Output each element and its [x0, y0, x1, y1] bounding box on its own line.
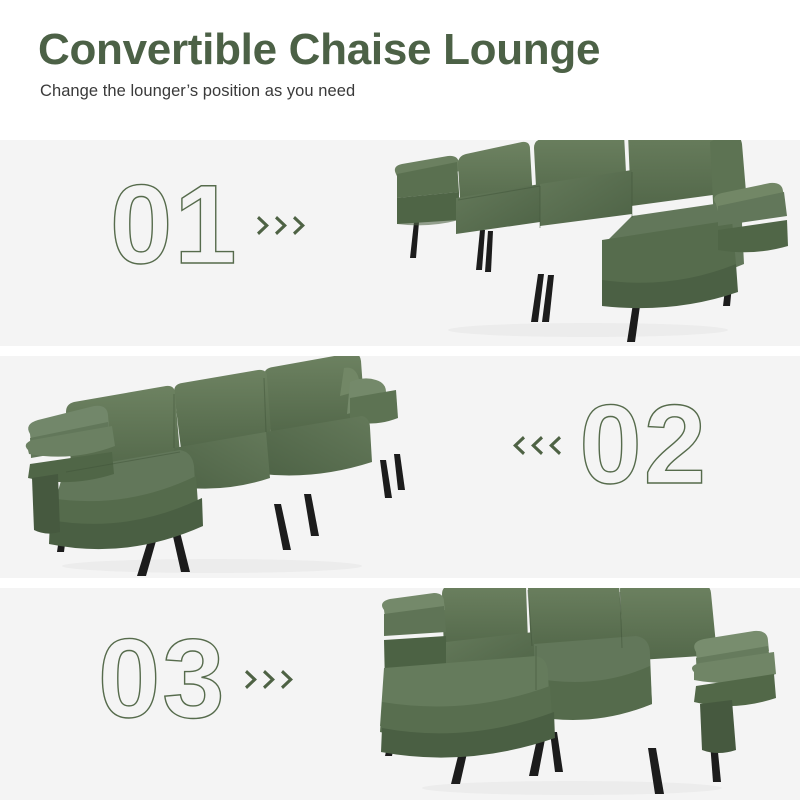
- sofa-image-3: [362, 588, 800, 800]
- chevron-left-icon: [546, 435, 561, 456]
- arrow-group-left-2: [510, 435, 561, 456]
- page-title: Convertible Chaise Lounge: [38, 26, 800, 74]
- page-subtitle: Change the lounger’s position as you nee…: [40, 82, 800, 101]
- step-number-2: 02: [579, 398, 708, 492]
- chevron-right-icon: [293, 215, 308, 236]
- step-indicator-3: 03: [98, 632, 296, 726]
- chevron-right-icon: [245, 669, 260, 690]
- sofa-illustration-left-chaise: [12, 356, 432, 578]
- step-indicator-2: 02: [510, 398, 708, 492]
- chevron-right-icon: [275, 215, 290, 236]
- chevron-right-icon: [281, 669, 296, 690]
- step-number-3: 03: [98, 632, 227, 726]
- sofa-image-2: [12, 356, 432, 578]
- chevron-left-icon: [528, 435, 543, 456]
- chevron-right-icon: [257, 215, 272, 236]
- step-panel-1: 01: [0, 140, 800, 346]
- sofa-image-1: [388, 140, 798, 346]
- step-number-1: 01: [110, 178, 239, 272]
- arrow-group-right-1: [257, 215, 308, 236]
- chevron-right-icon: [263, 669, 278, 690]
- step-panel-3: 03: [0, 588, 800, 800]
- header: Convertible Chaise Lounge Change the lou…: [0, 0, 800, 140]
- chevron-left-icon: [510, 435, 525, 456]
- arrow-group-right-3: [245, 669, 296, 690]
- sofa-illustration-compact-l: [362, 588, 800, 800]
- step-indicator-1: 01: [110, 178, 308, 272]
- step-panel-2: 02: [0, 356, 800, 578]
- sofa-illustration-right-chaise: [388, 140, 798, 346]
